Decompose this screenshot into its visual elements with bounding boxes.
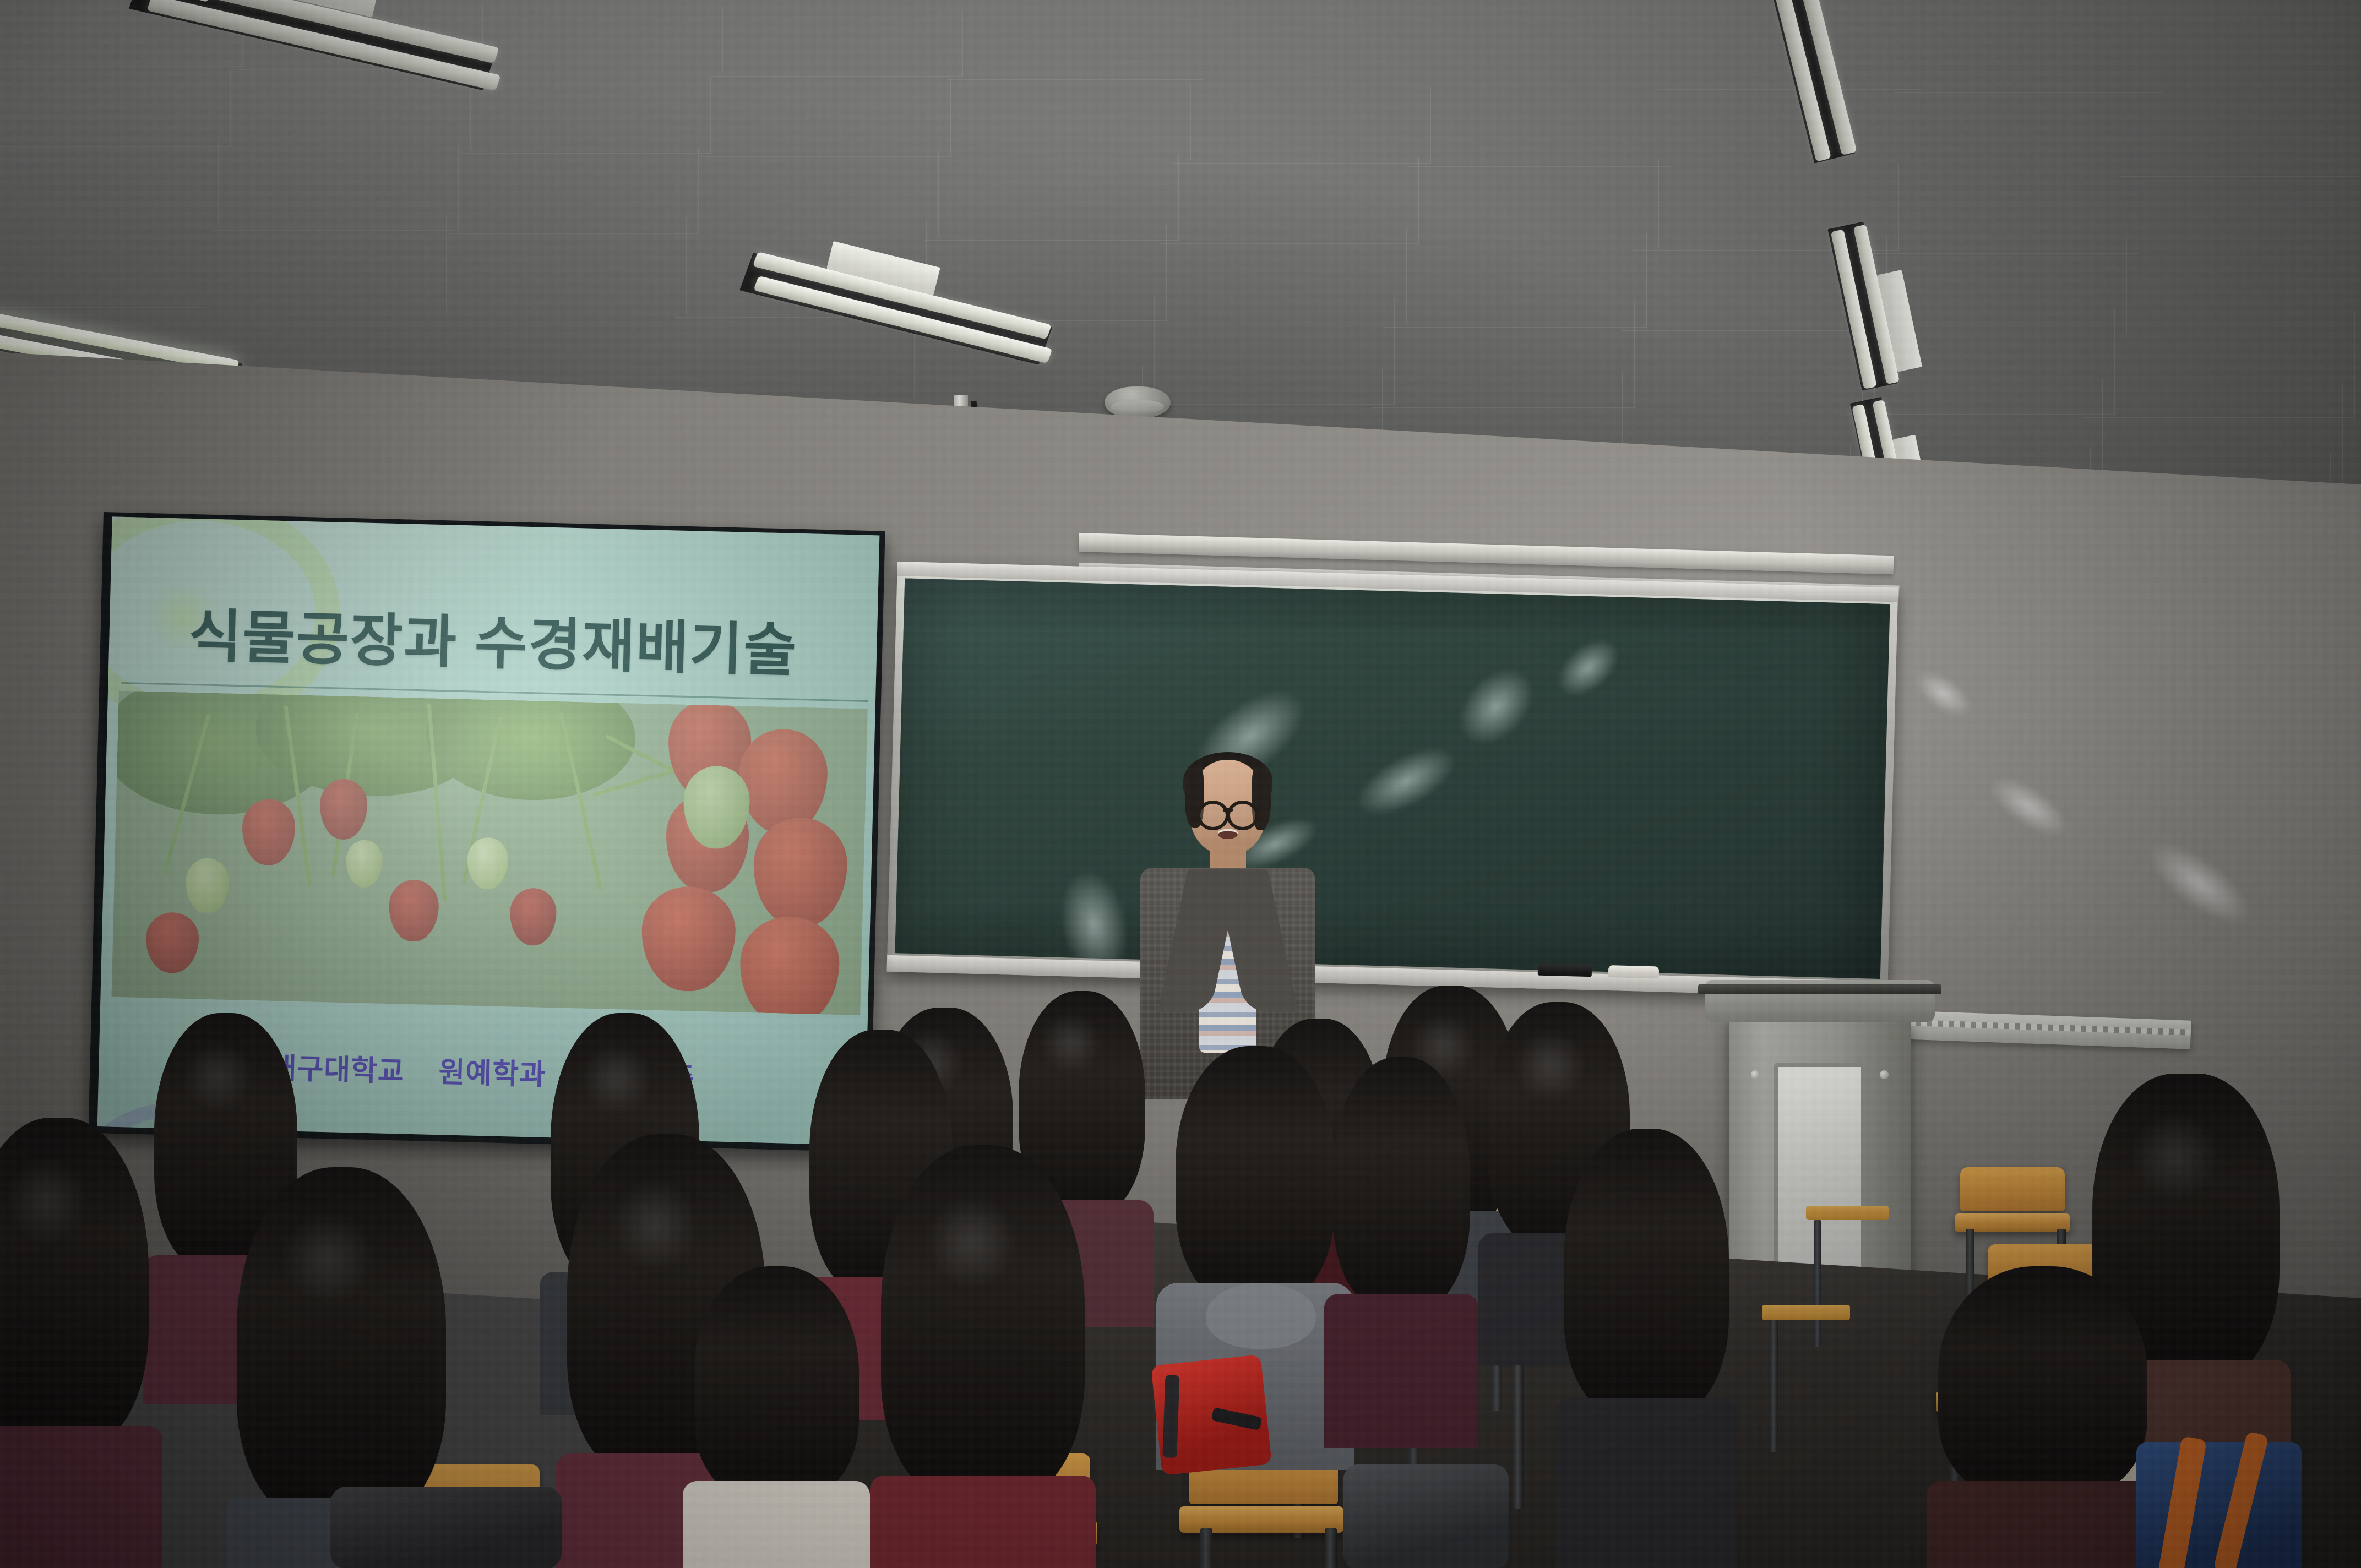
ceiling-tile xyxy=(1147,228,1407,324)
ceiling-tile xyxy=(1184,17,1443,83)
slide-strawberry-photo xyxy=(111,691,867,1015)
ceiling-tile xyxy=(1135,298,1395,405)
ceiling-tile xyxy=(1882,97,2151,173)
ceiling-tile xyxy=(1894,26,2163,93)
eyeglasses-icon xyxy=(1197,801,1229,830)
smoke-detector-icon xyxy=(1105,386,1171,418)
red-backpack xyxy=(1151,1354,1272,1476)
hoodie-hood xyxy=(1206,1283,1316,1349)
ceiling-tile xyxy=(474,7,723,73)
ceiling-tile xyxy=(2095,241,2361,337)
blackboard-eraser-dark xyxy=(1538,963,1592,977)
ceiling-tile xyxy=(461,77,711,154)
presenter-mouth xyxy=(1218,829,1238,839)
ceiling-tile xyxy=(213,144,459,231)
ceiling-tile xyxy=(0,141,219,227)
ceiling-tile xyxy=(686,151,939,237)
ceiling-tile xyxy=(449,148,699,234)
ceiling-tile xyxy=(1372,302,1635,408)
lectern-screw xyxy=(1751,1070,1760,1079)
student-front-5 xyxy=(694,1266,859,1568)
ceiling-tile xyxy=(2107,171,2361,257)
lecture-hall-photo: 식물공장과 수경재배기술 xyxy=(0,0,2361,1568)
ceiling-tile xyxy=(1172,87,1431,164)
ceiling-tile xyxy=(2082,312,2355,418)
presenter-head xyxy=(1189,760,1266,854)
ceiling-tile xyxy=(437,218,687,314)
gray-bag xyxy=(330,1487,562,1568)
ceiling-tile xyxy=(200,215,447,311)
ceiling-tile xyxy=(2131,30,2361,96)
student-front-4 xyxy=(881,1145,1085,1568)
student-mid-5 xyxy=(1332,1057,1470,1442)
ceiling-tile xyxy=(1384,231,1647,328)
ceiling-tile xyxy=(1160,157,1419,244)
ceiling-tile xyxy=(698,80,951,157)
ceiling-tile xyxy=(947,13,1203,80)
lectern-top xyxy=(1705,980,1935,1022)
ceiling-tile xyxy=(1408,90,1671,167)
gray-bag-2 xyxy=(1343,1464,1509,1568)
blue-orange-backpack xyxy=(2136,1442,2302,1568)
blackboard-surface xyxy=(895,578,1890,979)
ceiling-tile xyxy=(2119,100,2361,177)
eyeglasses-icon xyxy=(1227,801,1259,830)
student-front-7 xyxy=(1938,1266,2147,1568)
lectern-screw xyxy=(1880,1070,1889,1079)
ceiling-tile xyxy=(923,154,1179,241)
ceiling-tile xyxy=(1396,161,1659,247)
blackboard xyxy=(886,562,1898,998)
ceiling-tile xyxy=(935,84,1191,160)
ceiling-tile xyxy=(1870,167,2139,254)
student-front-6 xyxy=(1564,1129,1729,1568)
student-front-1 xyxy=(0,1118,149,1568)
ceiling-tile xyxy=(710,10,963,77)
chalk-eraser-white xyxy=(1608,965,1660,978)
ceiling-tile xyxy=(0,211,206,308)
